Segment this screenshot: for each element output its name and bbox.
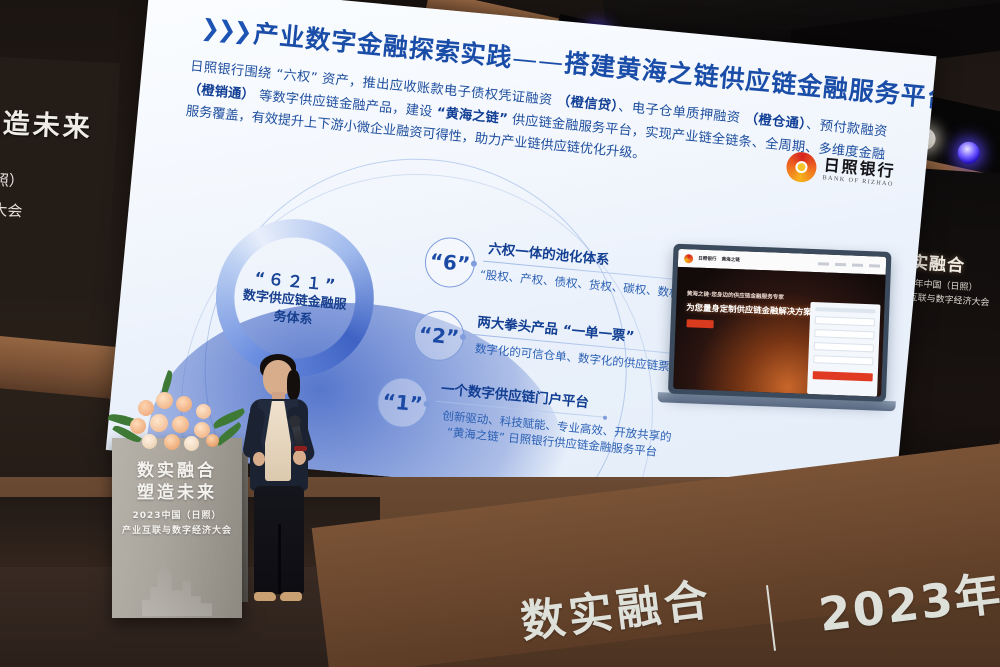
laptop-mockup: 日照银行 黄海之链 黄海之链·您身边的供应链金融服务专家 为您量身定制供应链金融… — [668, 244, 892, 402]
website-nav[interactable] — [818, 262, 880, 267]
stage-light-blue — [956, 140, 982, 166]
speaker-shoe-left — [254, 592, 276, 601]
website-form-card — [807, 302, 880, 397]
speaker-hand-right — [293, 450, 306, 465]
left-wall-line3: 经济大会 — [0, 197, 23, 221]
website-logo-icon — [684, 254, 693, 263]
speaker-shoe-right — [280, 592, 302, 601]
website-hero: 黄海之链·您身边的供应链金融服务专家 为您量身定制供应链金融解决方案 — [673, 267, 886, 397]
body-term-orange-warehouse: （橙仓通） — [744, 112, 807, 133]
flower — [184, 436, 199, 451]
speaker-trouser-split — [278, 524, 281, 594]
flower — [176, 396, 192, 412]
flower — [142, 434, 157, 449]
form-field[interactable] — [815, 316, 875, 326]
website-hero-line2: 为您量身定制供应链金融解决方案 — [686, 301, 812, 318]
body-term-orange-credit: （橙信贷） — [556, 94, 619, 115]
website-cta-button[interactable] — [686, 319, 713, 328]
body-term-orange-sales: （橙销通） — [187, 82, 255, 103]
flower — [164, 434, 180, 450]
laptop-screen: 日照银行 黄海之链 黄海之链·您身边的供应链金融服务专家 为您量身定制供应链金融… — [673, 249, 886, 397]
speaker-hair-side — [287, 370, 300, 400]
bank-logo-text: 日照银行 BANK OF RIZHAO — [822, 157, 896, 187]
flower — [206, 434, 219, 447]
podium-line4: 产业互联与数字经济大会 — [112, 523, 242, 536]
slide-title-main: 产业数字金融探索实践 — [252, 19, 514, 72]
bank-sun-mark-icon — [785, 151, 818, 184]
website-hero-line1: 黄海之链·您身边的供应链金融服务专家 — [687, 289, 784, 301]
body-part-2: 、电子仓单质押融资 — [618, 100, 746, 127]
form-field[interactable] — [813, 355, 873, 365]
flower — [172, 416, 189, 433]
flower-arrangement — [108, 378, 248, 456]
body-part-5: 供应链金融服务平台，实现产业链全链条、全周期、多维度金融服务覆盖，有效提升上下游… — [185, 104, 885, 162]
speaker-hand-left — [253, 452, 265, 466]
flower — [196, 404, 211, 419]
speaker-presenter — [232, 356, 328, 606]
form-field[interactable] — [814, 342, 874, 352]
left-wall-sign: 塑造未来 （日照） 经济大会 — [0, 57, 120, 303]
laptop-lid: 日照银行 黄海之链 黄海之链·您身边的供应链金融服务专家 为您量身定制供应链金融… — [668, 244, 892, 402]
body-term-yellow-sea-chain: “黄海之链” — [436, 105, 508, 127]
flower — [156, 392, 173, 409]
flower — [150, 414, 168, 432]
podium-line3: 2023中国（日照） — [112, 508, 242, 521]
speaker-wristband — [294, 446, 307, 451]
podium-skyline-graphic — [142, 558, 212, 616]
left-wall-line2: （日照） — [0, 167, 24, 191]
left-wall-headline: 塑造未来 — [0, 100, 114, 146]
chevron-icon: ❯❯❯ — [200, 15, 251, 45]
slide-title-dash: —— — [511, 44, 565, 78]
flower — [138, 400, 154, 416]
form-field[interactable] — [814, 329, 874, 339]
form-card-title — [815, 307, 875, 313]
website-logo-cn: 日照银行 — [698, 256, 717, 263]
website-portal-name: 黄海之链 — [721, 256, 740, 263]
podium: 数实融合 塑造未来 2023中国（日照） 产业互联与数字经济大会 — [112, 438, 242, 618]
conference-photo: 塑造未来 （日照） 经济大会 数实融合 2023年中国（日照） 产业互联与数字经… — [0, 0, 1000, 667]
podium-line2: 塑造未来 — [112, 478, 242, 503]
form-submit-button[interactable] — [813, 371, 873, 381]
donut-label-line2: 务体系 — [273, 309, 313, 328]
flower — [130, 418, 146, 434]
body-part-3: 、预付款融资 — [805, 117, 887, 140]
